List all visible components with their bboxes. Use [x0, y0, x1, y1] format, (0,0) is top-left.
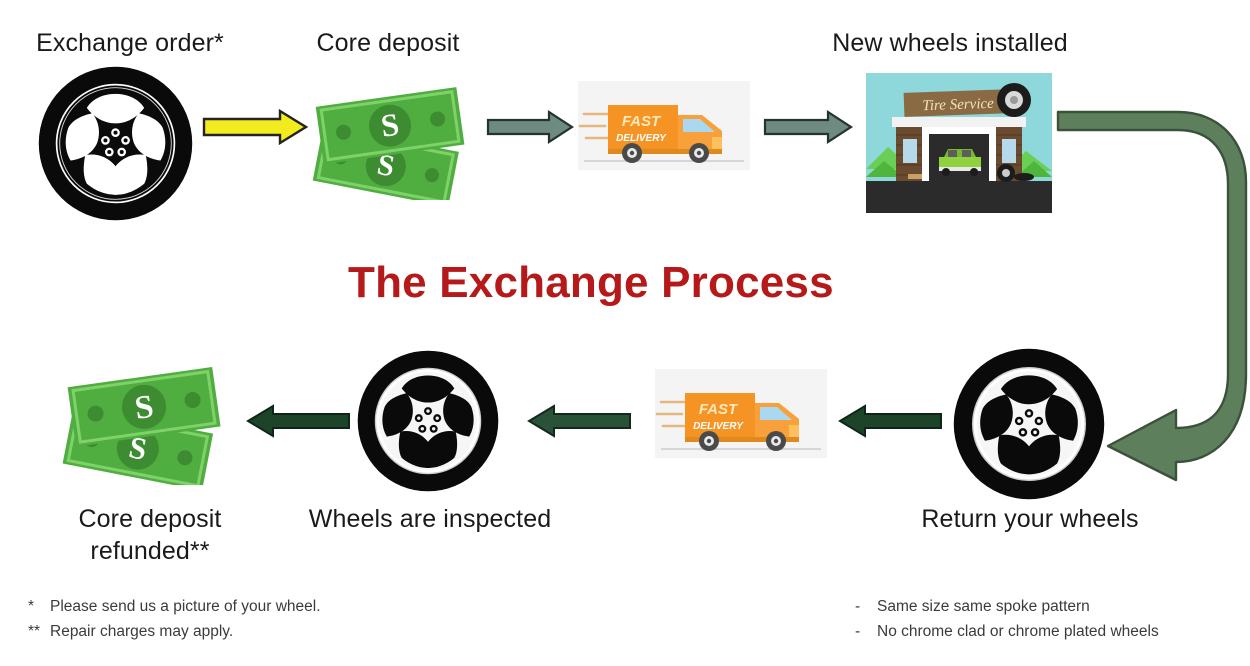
svg-text:DELIVERY: DELIVERY [616, 133, 667, 144]
svg-text:FAST: FAST [699, 401, 739, 418]
note-left-1: *Please send us a picture of your wheel. [28, 594, 321, 619]
label-return-your-wheels: Return your wheels [900, 504, 1160, 536]
notes-right: -Same size same spoke pattern -No chrome… [855, 594, 1159, 644]
svg-text:FAST: FAST [622, 113, 662, 130]
arrow-inspection-to-refund [246, 404, 350, 438]
arrow-order-to-deposit [202, 108, 308, 146]
arrow-shipping-back-to-inspection [527, 404, 631, 438]
note-right-1-text: Same size same spoke pattern [877, 598, 1090, 615]
note-right-2: -No chrome clad or chrome plated wheels [855, 619, 1159, 644]
svg-text:DELIVERY: DELIVERY [693, 421, 744, 432]
arrow-return-to-shipping-back [838, 404, 942, 438]
note-right-1-marker: - [855, 594, 877, 619]
label-new-wheels-installed: New wheels installed [800, 28, 1100, 60]
exchange-process-diagram: Exchange order* Core deposit New wheels … [0, 0, 1250, 666]
note-left-1-text: Please send us a picture of your wheel. [50, 598, 321, 615]
note-left-2-marker: ** [28, 619, 50, 644]
page-title: The Exchange Process [348, 258, 834, 308]
wheel-icon-return-wheels [953, 348, 1105, 500]
note-left-1-marker: * [28, 594, 50, 619]
money-icon-core-deposit: S S [305, 70, 480, 200]
wheel-icon-wheels-inspected [357, 350, 499, 492]
note-right-2-text: No chrome clad or chrome plated wheels [877, 623, 1159, 640]
note-right-2-marker: - [855, 619, 877, 644]
label-core-deposit-refunded: Core deposit refunded** [25, 504, 275, 567]
fast-delivery-truck-icon-outbound: FAST DELIVERY [578, 81, 750, 170]
arrow-deposit-to-shipping [487, 110, 573, 144]
svg-text:Tire Service: Tire Service [922, 96, 994, 114]
wheel-icon-exchange-order [38, 66, 193, 221]
note-right-1: -Same size same spoke pattern [855, 594, 1159, 619]
tire-service-shop-icon: Tire Service [866, 73, 1052, 213]
money-icon-core-deposit-refunded: S S [55, 350, 240, 485]
arrow-shipping-to-install [764, 110, 852, 144]
label-wheels-are-inspected: Wheels are inspected [300, 504, 560, 536]
note-left-2-text: Repair charges may apply. [50, 623, 233, 640]
notes-left: *Please send us a picture of your wheel.… [28, 594, 321, 644]
note-left-2: **Repair charges may apply. [28, 619, 321, 644]
label-core-deposit: Core deposit [278, 28, 498, 60]
label-exchange-order: Exchange order* [10, 28, 250, 60]
fast-delivery-truck-icon-inbound: FAST DELIVERY [655, 369, 827, 458]
